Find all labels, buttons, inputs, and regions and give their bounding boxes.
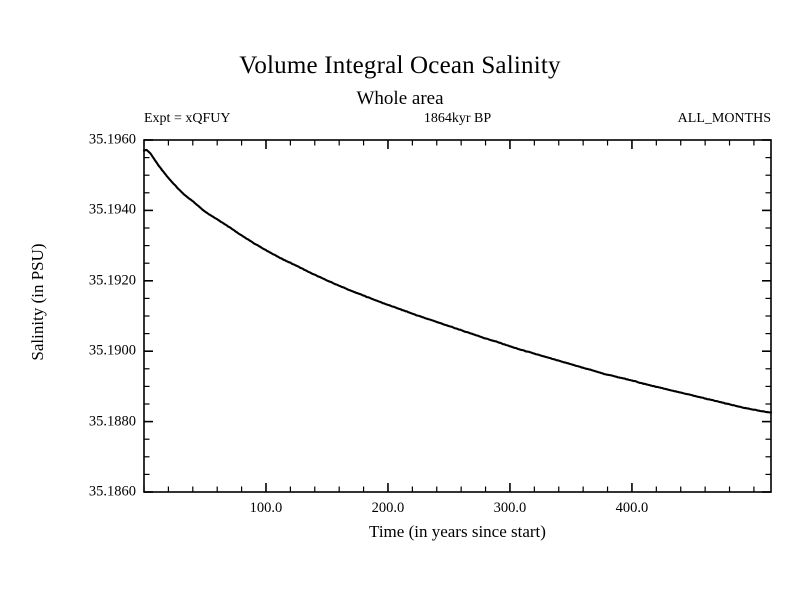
axis-frame — [144, 140, 771, 492]
x-axis-ticks — [144, 140, 754, 492]
y-axis-ticks — [144, 140, 771, 492]
y-tick-label: 35.1880 — [89, 413, 136, 430]
plot-border — [144, 140, 771, 492]
y-tick-label: 35.1940 — [89, 202, 136, 219]
x-tick-label: 400.0 — [616, 500, 649, 517]
x-tick-label: 200.0 — [372, 500, 405, 517]
chart-figure: Volume Integral Ocean Salinity Whole are… — [0, 0, 800, 600]
x-tick-label: 100.0 — [250, 500, 283, 517]
x-tick-label: 300.0 — [494, 500, 527, 517]
y-tick-label: 35.1900 — [89, 343, 136, 360]
y-tick-label: 35.1960 — [89, 132, 136, 149]
y-tick-label: 35.1920 — [89, 272, 136, 289]
salinity-line — [144, 150, 771, 413]
y-tick-label: 35.1860 — [89, 484, 136, 501]
